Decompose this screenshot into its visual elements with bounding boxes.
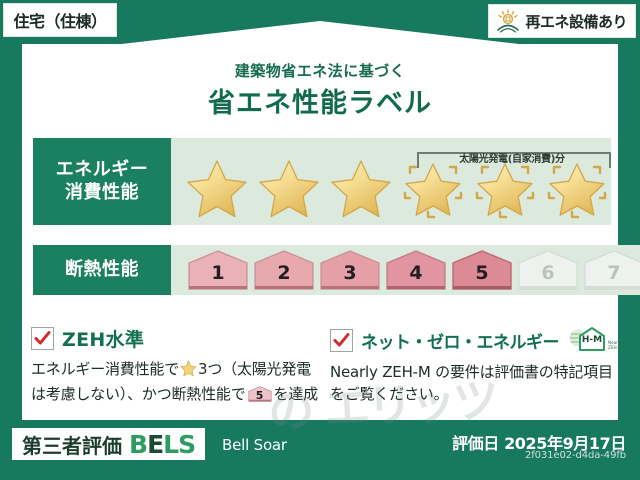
insulation-badge: 3 — [319, 249, 381, 291]
inline-star-icon — [180, 360, 197, 384]
evaluation-id: 2f031e02-d4da-49fb — [525, 450, 626, 461]
zeh-standard-header: ZEH水準 — [31, 325, 321, 352]
zeh-standard-description: エネルギー消費性能で 3つ（太陽光発電 は考慮しない）、かつ断熱性能で 5 を達… — [31, 359, 321, 406]
net-zero-energy-title: ネット・ゼロ・エネルギー — [361, 328, 559, 353]
zeh-standard-title: ZEH水準 — [62, 325, 144, 352]
star-icon — [327, 154, 395, 224]
energy-consumption-row: エネルギー 消費性能 太陽光発電(自家消費)分 — [33, 138, 607, 225]
housing-type-tag: 住宅（住棟） — [3, 3, 117, 37]
renewable-equipment-label: 再エネ設備あり — [525, 11, 627, 32]
insulation-badge-value: 3 — [343, 264, 356, 291]
energy-label-line1: エネルギー — [56, 159, 149, 182]
checkbox-checked-icon — [330, 329, 353, 352]
svg-text:H-M: H-M — [582, 335, 602, 345]
insulation-badge-group: 1 2 3 — [171, 249, 640, 291]
inline-badge-value: 5 — [248, 388, 272, 404]
insulation-badge: 2 — [253, 249, 315, 291]
zeh-desc-part2: は考慮しない）、かつ断熱性能で — [31, 385, 246, 403]
insulation-badge-value: 4 — [409, 264, 422, 291]
energy-performance-label: 住宅（住棟） 再エネ設備あり 建築物省エネ法に基づく 省エネ性能ラベル — [0, 0, 640, 480]
star-rating-group — [171, 154, 611, 224]
insulation-label-text: 断熱性能 — [65, 259, 139, 282]
bels-jp-label: 第三者評価 — [22, 430, 122, 459]
housing-type-label: 住宅（住棟） — [13, 8, 106, 32]
insulation-badge-value: 7 — [607, 264, 620, 291]
page-title: 省エネ性能ラベル — [0, 81, 640, 120]
insulation-badge-value: 1 — [211, 264, 224, 291]
star-sparkle-icon — [471, 154, 539, 224]
insulation-badge-value: 2 — [277, 264, 290, 291]
bels-letters-ls: LS — [163, 430, 195, 459]
bels-letter-b: B — [129, 430, 147, 459]
insulation-badge: 1 — [187, 249, 249, 291]
label-subtitle: 建築物省エネ法に基づく — [0, 60, 640, 81]
inline-insulation-badge: 5 — [248, 385, 272, 403]
star-icon — [183, 154, 251, 224]
bels-logo-text: BELS — [129, 430, 195, 459]
insulation-badge-value: 5 — [475, 264, 488, 291]
insulation-badge: 4 — [385, 249, 447, 291]
energy-consumption-rating: 太陽光発電(自家消費)分 — [171, 138, 611, 225]
net-zero-energy-block: ネット・ゼロ・エネルギー H-M Nearly ZEH-M Nearly ZEH… — [330, 325, 616, 406]
checkbox-checked-icon — [31, 327, 54, 350]
star-icon — [255, 154, 323, 224]
renewable-equipment-tag: 再エネ設備あり — [488, 4, 636, 38]
net-zero-energy-header: ネット・ゼロ・エネルギー H-M Nearly ZEH-M — [330, 325, 616, 355]
zeh-desc-stars: 3つ（太陽光発電 — [198, 360, 311, 378]
property-name: Bell Soar — [222, 436, 287, 454]
zeh-desc-part1: エネルギー消費性能で — [31, 360, 179, 378]
star-sparkle-icon — [543, 154, 611, 224]
insulation-performance-row: 断熱性能 1 2 — [33, 245, 607, 295]
insulation-badge: 6 — [517, 249, 579, 291]
evaluation-date-label: 評価日 — [452, 434, 499, 453]
insulation-badge-value: 6 — [541, 264, 554, 291]
bels-letter-e: E — [147, 430, 163, 459]
svg-text:ZEH-M: ZEH-M — [608, 345, 621, 350]
energy-consumption-label: エネルギー 消費性能 — [33, 138, 171, 225]
nearly-zeh-m-logo-icon: H-M Nearly ZEH-M — [567, 325, 621, 355]
zeh-standard-block: ZEH水準 エネルギー消費性能で 3つ（太陽光発電 は考慮しない）、かつ断熱性能… — [31, 325, 321, 406]
insulation-rating: 1 2 3 — [171, 245, 640, 295]
insulation-badge: 7 — [583, 249, 640, 291]
bels-third-party-badge: 第三者評価 BELS — [12, 428, 205, 460]
insulation-badge-achieved: 5 — [451, 249, 513, 291]
energy-label-line2: 消費性能 — [65, 182, 139, 205]
star-sparkle-icon — [399, 154, 467, 224]
net-zero-energy-description: Nearly ZEH-M の要件は評価書の特記項目をご覧ください。 — [330, 362, 616, 406]
insulation-performance-label: 断熱性能 — [33, 245, 171, 295]
solar-sun-icon — [495, 9, 521, 33]
zeh-desc-part3: を達成 — [274, 385, 318, 403]
